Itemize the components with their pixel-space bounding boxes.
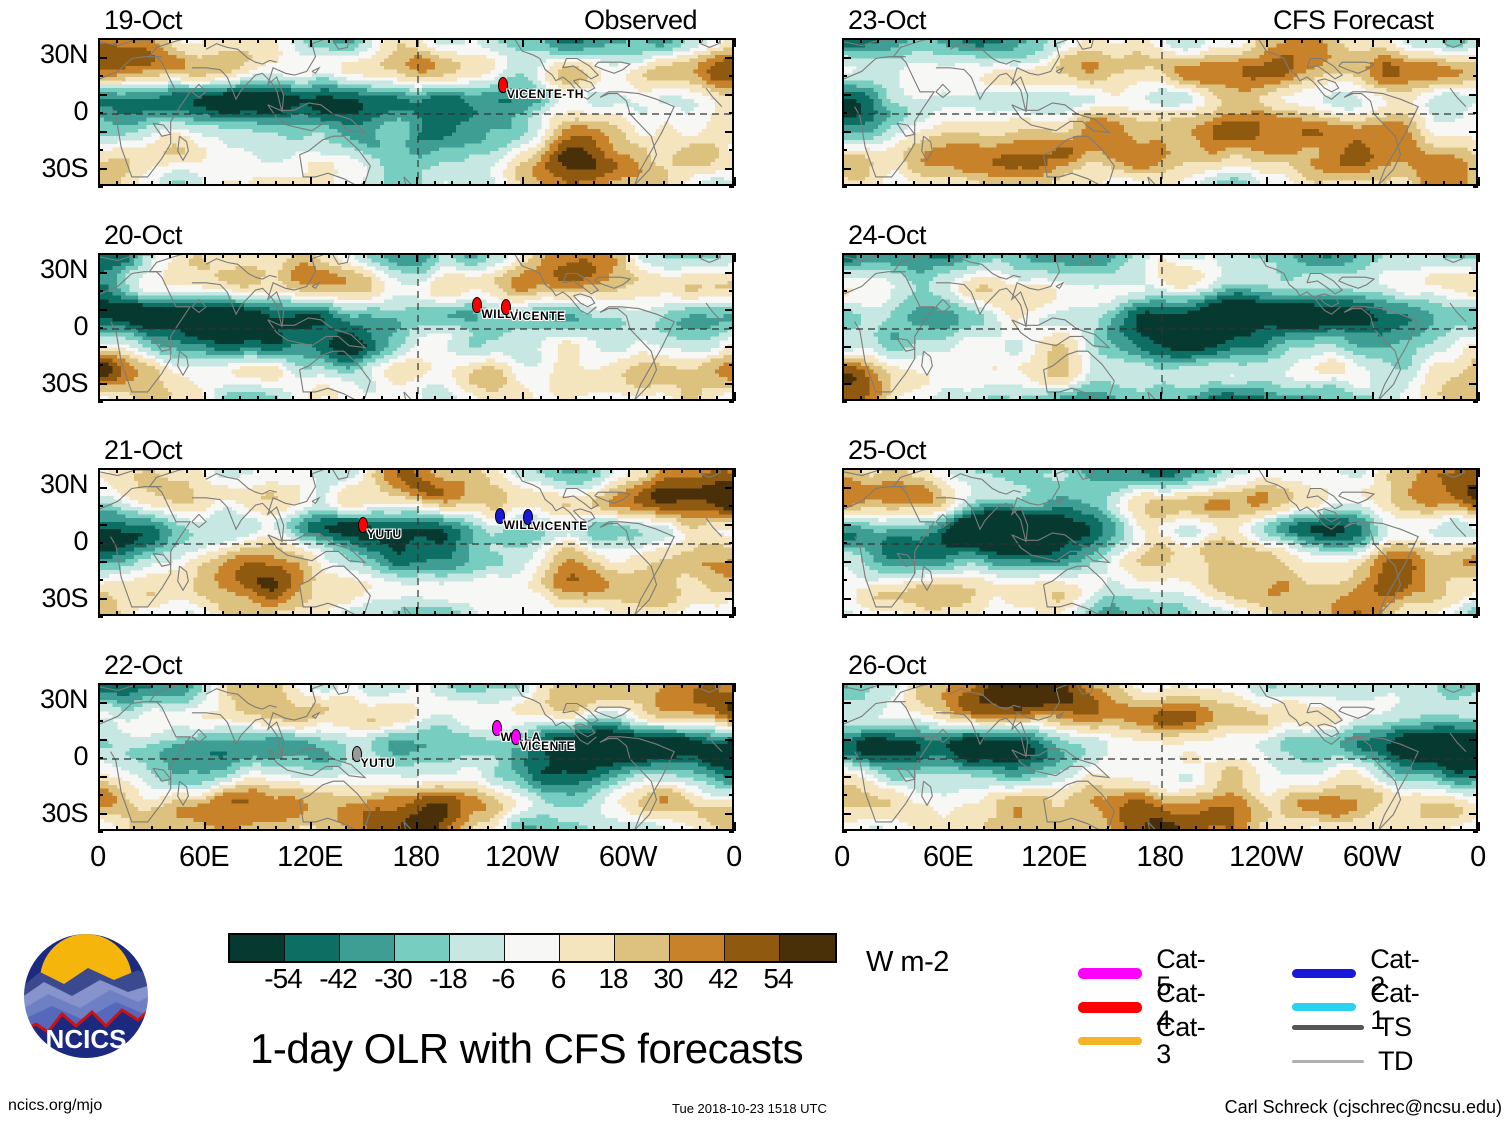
axis-tick xyxy=(913,468,915,473)
axis-tick xyxy=(239,611,241,616)
axis-tick xyxy=(681,396,683,401)
axis-tick xyxy=(842,38,847,40)
axis-tick xyxy=(1178,253,1180,258)
axis-tick xyxy=(575,826,577,831)
axis-tick xyxy=(610,683,612,688)
axis-tick xyxy=(1019,396,1021,401)
axis-tick xyxy=(1089,181,1091,186)
axis-tick xyxy=(1407,253,1409,258)
axis-tick xyxy=(1195,468,1197,473)
axis-tick xyxy=(98,57,107,59)
axis-tick xyxy=(729,794,734,796)
axis-tick xyxy=(1372,38,1374,47)
axis-tick xyxy=(557,826,559,831)
axis-tick xyxy=(1072,181,1074,186)
axis-tick xyxy=(239,38,241,43)
figure-title: 1-day OLR with CFS forecasts xyxy=(250,1028,803,1070)
axis-tick xyxy=(663,468,665,473)
axis-tick xyxy=(522,38,524,47)
axis-tick xyxy=(1142,468,1144,473)
y-axis-label: 0 xyxy=(0,98,88,125)
axis-tick xyxy=(292,253,294,258)
axis-tick xyxy=(522,392,524,401)
axis-tick xyxy=(133,396,135,401)
axis-tick xyxy=(983,38,985,43)
axis-tick xyxy=(1337,253,1339,258)
axis-tick xyxy=(1178,826,1180,831)
axis-tick xyxy=(628,683,630,692)
axis-tick xyxy=(1478,822,1480,831)
axis-tick xyxy=(725,702,734,704)
axis-tick xyxy=(983,468,985,473)
axis-tick xyxy=(451,683,453,688)
axis-tick xyxy=(1460,826,1462,831)
panel-date-22-oct: 22-Oct xyxy=(104,652,182,679)
axis-tick xyxy=(98,177,100,186)
axis-tick xyxy=(725,309,734,311)
axis-tick xyxy=(275,611,277,616)
axis-tick xyxy=(842,149,847,151)
y-axis-label: 30N xyxy=(0,471,88,498)
axis-tick xyxy=(363,826,365,831)
axis-tick xyxy=(275,468,277,473)
axis-tick xyxy=(275,683,277,688)
axis-tick xyxy=(895,181,897,186)
axis-tick xyxy=(1469,346,1478,348)
axis-tick xyxy=(151,181,153,186)
axis-tick xyxy=(151,826,153,831)
axis-tick xyxy=(663,38,665,43)
axis-tick xyxy=(842,468,847,470)
axis-tick xyxy=(1089,826,1091,831)
colorbar-ticks: -54-42-30-18-6618304254 xyxy=(228,965,833,999)
axis-tick xyxy=(966,181,968,186)
axis-tick xyxy=(451,611,453,616)
panel-date-23-oct: 23-Oct xyxy=(848,7,926,34)
axis-tick xyxy=(98,579,103,581)
axis-tick xyxy=(451,253,453,258)
axis-tick xyxy=(1231,826,1233,831)
axis-tick xyxy=(257,826,259,831)
axis-tick xyxy=(842,401,847,403)
axis-tick xyxy=(725,346,734,348)
axis-tick xyxy=(169,826,171,831)
axis-tick xyxy=(1319,826,1321,831)
axis-tick xyxy=(842,794,847,796)
axis-tick xyxy=(593,253,595,258)
axis-tick xyxy=(151,611,153,616)
axis-tick xyxy=(1231,468,1233,473)
axis-tick xyxy=(98,253,103,255)
axis-tick xyxy=(1337,826,1339,831)
axis-tick xyxy=(204,253,206,262)
axis-tick xyxy=(98,401,103,403)
axis-tick xyxy=(557,683,559,688)
axis-tick xyxy=(1266,607,1268,616)
axis-tick xyxy=(725,561,734,563)
axis-tick xyxy=(734,392,736,401)
axis-tick xyxy=(416,253,418,262)
axis-tick xyxy=(860,38,862,43)
axis-tick xyxy=(1160,683,1162,692)
axis-tick xyxy=(1337,683,1339,688)
axis-tick xyxy=(257,38,259,43)
axis-tick xyxy=(434,611,436,616)
axis-tick xyxy=(1390,683,1392,688)
axis-tick xyxy=(540,683,542,688)
axis-tick xyxy=(1319,683,1321,688)
axis-tick xyxy=(593,38,595,43)
colorbar-swatch-10 xyxy=(780,935,835,961)
axis-tick xyxy=(1301,468,1303,473)
axis-tick xyxy=(469,468,471,473)
axis-tick xyxy=(1460,396,1462,401)
y-axis-label: 30N xyxy=(0,41,88,68)
axis-tick xyxy=(504,468,506,473)
axis-tick xyxy=(842,505,847,507)
axis-tick xyxy=(292,396,294,401)
axis-tick xyxy=(239,826,241,831)
axis-tick xyxy=(1054,253,1056,262)
axis-tick xyxy=(1213,468,1215,473)
axis-tick xyxy=(98,272,107,274)
colorbar-swatch-0 xyxy=(230,935,285,961)
colorbar-swatch-7 xyxy=(615,935,670,961)
axis-tick xyxy=(1354,181,1356,186)
axis-tick xyxy=(239,253,241,258)
axis-tick xyxy=(98,309,107,311)
colorbar-swatch-1 xyxy=(285,935,340,961)
axis-tick xyxy=(913,396,915,401)
axis-tick xyxy=(1443,396,1445,401)
axis-tick xyxy=(1319,253,1321,258)
axis-tick xyxy=(1178,683,1180,688)
legend-item-cat-3: Cat-3 xyxy=(1078,1014,1213,1068)
axis-tick xyxy=(575,396,577,401)
axis-tick xyxy=(1473,290,1478,292)
axis-tick xyxy=(345,468,347,473)
axis-tick xyxy=(363,468,365,473)
axis-tick xyxy=(186,181,188,186)
axis-tick xyxy=(860,468,862,473)
axis-tick xyxy=(381,826,383,831)
axis-tick xyxy=(504,181,506,186)
axis-tick xyxy=(1354,396,1356,401)
colorbar xyxy=(228,933,837,963)
axis-tick xyxy=(1266,38,1268,47)
axis-tick xyxy=(1473,364,1478,366)
axis-tick xyxy=(593,611,595,616)
legend-line-swatch xyxy=(1078,1037,1142,1045)
axis-tick xyxy=(1001,38,1003,43)
axis-tick xyxy=(151,38,153,43)
legend-line-swatch xyxy=(1078,968,1142,979)
axis-tick xyxy=(966,683,968,688)
axis-tick xyxy=(646,38,648,43)
axis-tick xyxy=(575,611,577,616)
axis-tick xyxy=(1473,720,1478,722)
axis-tick xyxy=(487,253,489,258)
axis-tick xyxy=(1337,396,1339,401)
legend-line-swatch xyxy=(1292,1025,1364,1030)
axis-tick xyxy=(1354,683,1356,688)
axis-tick xyxy=(842,309,851,311)
axis-tick xyxy=(275,181,277,186)
legend-line-swatch xyxy=(1292,1003,1356,1011)
axis-tick xyxy=(966,826,968,831)
axis-tick xyxy=(895,611,897,616)
x-axis-label: 60W xyxy=(1332,843,1412,872)
axis-tick xyxy=(729,579,734,581)
axis-tick xyxy=(1469,776,1478,778)
x-axis-label: 0 xyxy=(58,843,138,872)
axis-tick xyxy=(310,177,312,186)
axis-tick xyxy=(1266,822,1268,831)
axis-tick xyxy=(98,702,107,704)
axis-tick xyxy=(1301,611,1303,616)
axis-tick xyxy=(381,683,383,688)
y-axis-label: 0 xyxy=(0,313,88,340)
axis-tick xyxy=(133,38,135,43)
axis-tick xyxy=(1107,253,1109,258)
axis-tick xyxy=(345,396,347,401)
axis-tick xyxy=(966,38,968,43)
axis-tick xyxy=(663,683,665,688)
axis-tick xyxy=(292,38,294,43)
axis-tick xyxy=(842,94,851,96)
axis-tick xyxy=(860,826,862,831)
axis-tick xyxy=(381,468,383,473)
axis-tick xyxy=(98,813,107,815)
axis-tick xyxy=(1160,392,1162,401)
axis-tick xyxy=(716,468,718,473)
axis-tick xyxy=(363,181,365,186)
axis-tick xyxy=(310,392,312,401)
axis-tick xyxy=(734,468,736,477)
axis-tick xyxy=(1390,611,1392,616)
axis-tick xyxy=(98,683,103,685)
axis-tick xyxy=(842,346,851,348)
axis-tick xyxy=(1443,468,1445,473)
axis-tick xyxy=(98,383,107,385)
axis-tick xyxy=(628,177,630,186)
axis-tick xyxy=(98,346,107,348)
axis-tick xyxy=(98,776,107,778)
axis-tick xyxy=(98,112,103,114)
axis-tick xyxy=(1072,611,1074,616)
axis-tick xyxy=(151,683,153,688)
axis-tick xyxy=(1213,611,1215,616)
axis-tick xyxy=(1473,149,1478,151)
axis-tick xyxy=(1036,253,1038,258)
axis-tick xyxy=(1478,683,1480,692)
axis-tick xyxy=(98,524,107,526)
axis-tick xyxy=(930,826,932,831)
x-axis-label: 60W xyxy=(588,843,668,872)
x-axis-label: 120E xyxy=(270,843,350,872)
axis-tick xyxy=(257,396,259,401)
axis-tick xyxy=(98,757,103,759)
axis-tick xyxy=(186,468,188,473)
axis-tick xyxy=(1319,38,1321,43)
axis-tick xyxy=(98,131,107,133)
axis-tick xyxy=(1390,181,1392,186)
axis-tick xyxy=(842,822,844,831)
axis-tick xyxy=(877,38,879,43)
axis-tick xyxy=(1072,468,1074,473)
axis-tick xyxy=(1460,611,1462,616)
axis-tick xyxy=(363,683,365,688)
axis-tick xyxy=(1407,611,1409,616)
axis-tick xyxy=(1125,38,1127,43)
axis-tick xyxy=(948,253,950,262)
axis-tick xyxy=(504,396,506,401)
panel-date-20-oct: 20-Oct xyxy=(104,222,182,249)
axis-tick xyxy=(1248,826,1250,831)
axis-tick xyxy=(1473,253,1478,255)
axis-tick xyxy=(842,168,851,170)
axis-tick xyxy=(1372,607,1374,616)
axis-tick xyxy=(204,38,206,47)
axis-tick xyxy=(416,683,418,692)
axis-tick xyxy=(1284,181,1286,186)
axis-tick xyxy=(1213,826,1215,831)
axis-tick xyxy=(222,683,224,688)
axis-tick xyxy=(729,75,734,77)
axis-tick xyxy=(381,253,383,258)
axis-tick xyxy=(575,38,577,43)
axis-tick xyxy=(434,468,436,473)
axis-tick xyxy=(169,38,171,43)
axis-tick xyxy=(842,57,851,59)
axis-tick xyxy=(913,826,915,831)
axis-tick xyxy=(1407,826,1409,831)
axis-tick xyxy=(1142,38,1144,43)
axis-tick xyxy=(434,396,436,401)
axis-tick xyxy=(1337,468,1339,473)
axis-tick xyxy=(1469,383,1478,385)
axis-tick xyxy=(257,611,259,616)
axis-tick xyxy=(1001,468,1003,473)
axis-tick xyxy=(1266,177,1268,186)
axis-tick xyxy=(699,611,701,616)
axis-tick xyxy=(1469,272,1478,274)
axis-tick xyxy=(275,826,277,831)
axis-tick xyxy=(239,683,241,688)
axis-tick xyxy=(1301,181,1303,186)
axis-tick xyxy=(1125,253,1127,258)
axis-tick xyxy=(1231,38,1233,43)
legend-line-swatch xyxy=(1292,969,1356,978)
axis-tick xyxy=(434,38,436,43)
axis-tick xyxy=(98,720,103,722)
axis-tick xyxy=(610,611,612,616)
axis-tick xyxy=(1231,683,1233,688)
axis-tick xyxy=(1231,396,1233,401)
axis-tick xyxy=(729,290,734,292)
axis-tick xyxy=(1160,822,1162,831)
axis-tick xyxy=(663,396,665,401)
axis-tick xyxy=(222,396,224,401)
axis-tick xyxy=(1460,181,1462,186)
axis-tick xyxy=(1142,181,1144,186)
axis-tick xyxy=(646,826,648,831)
axis-tick xyxy=(1036,611,1038,616)
axis-tick xyxy=(540,611,542,616)
axis-tick xyxy=(222,468,224,473)
axis-tick xyxy=(1195,611,1197,616)
axis-tick xyxy=(1390,826,1392,831)
axis-tick xyxy=(328,611,330,616)
axis-tick xyxy=(1054,392,1056,401)
axis-tick xyxy=(1213,683,1215,688)
axis-tick xyxy=(116,396,118,401)
axis-tick xyxy=(734,253,736,262)
axis-tick xyxy=(557,38,559,43)
legend-line-swatch xyxy=(1292,1060,1364,1063)
axis-tick xyxy=(1469,94,1478,96)
axis-tick xyxy=(842,720,847,722)
axis-tick xyxy=(416,392,418,401)
axis-tick xyxy=(1001,253,1003,258)
axis-tick xyxy=(1319,181,1321,186)
axis-tick xyxy=(1469,524,1478,526)
axis-tick xyxy=(1054,468,1056,477)
axis-tick xyxy=(204,468,206,477)
axis-tick xyxy=(729,468,734,470)
axis-tick xyxy=(451,468,453,473)
axis-tick xyxy=(1473,401,1478,403)
axis-tick xyxy=(575,181,577,186)
axis-tick xyxy=(842,757,847,759)
axis-tick xyxy=(1195,38,1197,43)
axis-tick xyxy=(151,396,153,401)
axis-tick xyxy=(1019,683,1021,688)
axis-tick xyxy=(186,683,188,688)
axis-tick xyxy=(1473,683,1478,685)
axis-tick xyxy=(363,611,365,616)
axis-tick xyxy=(116,181,118,186)
axis-tick xyxy=(663,611,665,616)
axis-tick xyxy=(628,822,630,831)
colorbar-units: W m-2 xyxy=(866,948,949,977)
axis-tick xyxy=(1478,392,1480,401)
axis-tick xyxy=(98,327,103,329)
axis-tick xyxy=(1142,396,1144,401)
olr-map-25-oct xyxy=(842,468,1478,616)
axis-tick xyxy=(681,683,683,688)
column-header-cfs-forecast: CFS Forecast xyxy=(1273,7,1434,34)
axis-tick xyxy=(487,468,489,473)
axis-tick xyxy=(487,38,489,43)
axis-tick xyxy=(842,487,851,489)
footer-site[interactable]: ncics.org/mjo xyxy=(8,1098,102,1114)
axis-tick xyxy=(725,272,734,274)
axis-tick xyxy=(983,181,985,186)
colorbar-swatch-9 xyxy=(725,935,780,961)
axis-tick xyxy=(522,683,524,692)
storm-label: VICENTE xyxy=(532,519,588,533)
axis-tick xyxy=(186,396,188,401)
legend-label: TS xyxy=(1378,1014,1412,1041)
axis-tick xyxy=(363,396,365,401)
olr-map-26-oct xyxy=(842,683,1478,831)
axis-tick xyxy=(557,253,559,258)
axis-tick xyxy=(593,826,595,831)
axis-tick xyxy=(1054,607,1056,616)
axis-tick xyxy=(469,181,471,186)
panel-date-25-oct: 25-Oct xyxy=(848,437,926,464)
